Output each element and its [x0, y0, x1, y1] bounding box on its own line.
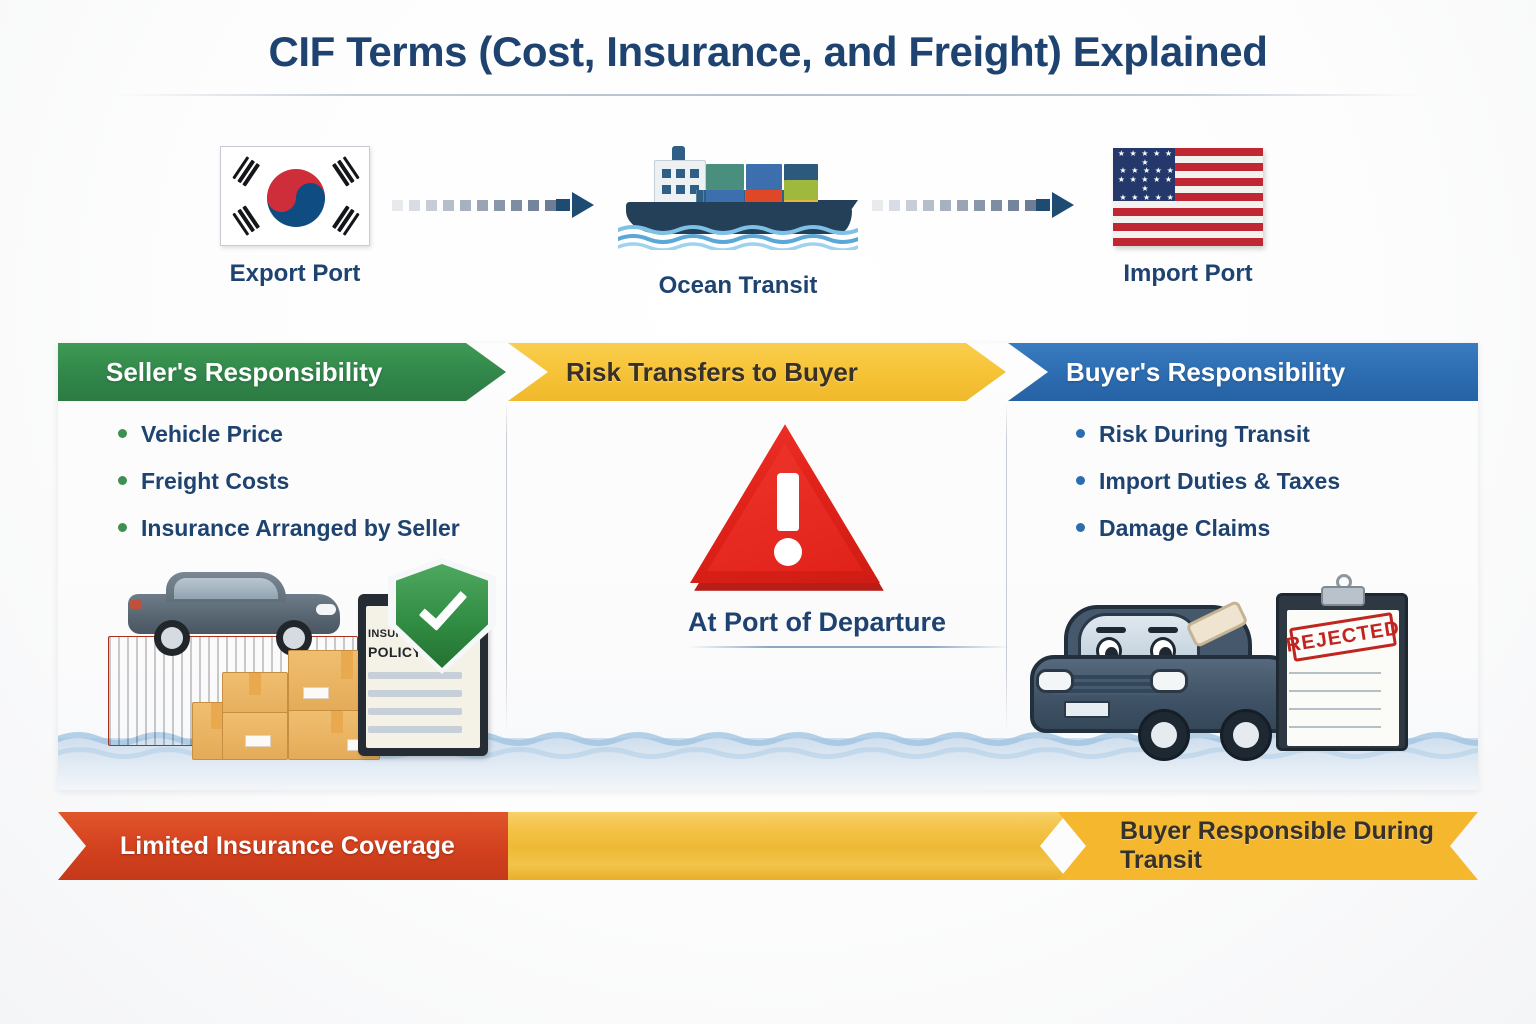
bullet-label: Freight Costs	[141, 468, 289, 495]
ribbon-middle	[508, 812, 1068, 880]
bullet-label: Insurance Arranged by Seller	[141, 515, 460, 542]
infographic-root: CIF Terms (Cost, Insurance, and Freight)…	[0, 0, 1536, 1024]
flow-node-import-port: ★ ★ ★ ★ ★ ★ ★ ★ ★ ★ ★★ ★ ★ ★ ★ ★ ★ ★ ★ ★…	[1113, 148, 1263, 288]
south-korea-flag-icon	[220, 146, 370, 246]
bullet-label: Damage Claims	[1099, 515, 1270, 542]
buyer-illustration: REJECTED	[1020, 579, 1420, 769]
bullet-dot-icon	[118, 476, 127, 485]
bottom-ribbon-bar: Limited Insurance Coverage Buyer Respons…	[58, 812, 1478, 880]
buyer-bullet-list: Risk During Transit Import Duties & Taxe…	[1076, 421, 1466, 562]
title-area: CIF Terms (Cost, Insurance, and Freight)…	[0, 28, 1536, 96]
flow-label-export-port: Export Port	[220, 260, 370, 288]
header-label-seller: Seller's Responsibility	[106, 357, 382, 388]
bullet-dot-icon	[1076, 429, 1085, 438]
usa-flag-icon: ★ ★ ★ ★ ★ ★ ★ ★ ★ ★ ★★ ★ ★ ★ ★ ★ ★ ★ ★ ★…	[1113, 148, 1263, 246]
seller-illustration: INSURANCE POLICY	[100, 558, 520, 763]
flow-node-ocean-transit: Ocean Transit	[618, 140, 858, 300]
ribbon-buyer-responsible: Buyer Responsible During Transit	[1058, 812, 1478, 880]
bullet-label: Risk During Transit	[1099, 421, 1310, 448]
bullet-dot-icon	[118, 429, 127, 438]
header-risk-transfers: Risk Transfers to Buyer	[508, 343, 1006, 401]
seller-bullet-list: Vehicle Price Freight Costs Insurance Ar…	[118, 421, 498, 562]
column-divider-right	[1006, 401, 1007, 731]
header-label-buyer: Buyer's Responsibility	[1066, 357, 1345, 388]
column-headers: Seller's Responsibility Risk Transfers t…	[58, 343, 1478, 401]
flow-label-import-port: Import Port	[1113, 260, 1263, 288]
title-divider	[118, 94, 1418, 96]
flow-node-export-port: Export Port	[220, 146, 370, 288]
list-item: Vehicle Price	[118, 421, 498, 448]
flow-label-ocean-transit: Ocean Transit	[618, 272, 858, 300]
ribbon-limited-insurance: Limited Insurance Coverage	[58, 812, 508, 880]
list-item: Freight Costs	[118, 468, 498, 495]
risk-transfer-callout: At Port of Departure	[688, 421, 888, 648]
list-item: Insurance Arranged by Seller	[118, 515, 498, 542]
bullet-dot-icon	[118, 523, 127, 532]
red-warning-triangle-icon	[690, 421, 886, 589]
rejected-clipboard: REJECTED	[1276, 593, 1408, 751]
dotted-arrow-right-icon	[392, 192, 594, 218]
ribbon-left-label: Limited Insurance Coverage	[120, 832, 455, 861]
container-ship-icon	[618, 140, 858, 250]
list-item: Import Duties & Taxes	[1076, 468, 1466, 495]
header-sellers-responsibility: Seller's Responsibility	[58, 343, 506, 401]
sedan-car-icon	[128, 568, 340, 642]
shipping-flow-row: Export Port	[0, 140, 1536, 320]
header-buyers-responsibility: Buyer's Responsibility	[1008, 343, 1478, 401]
responsibility-panel: Seller's Responsibility Risk Transfers t…	[58, 343, 1478, 790]
ribbon-right-label: Buyer Responsible During Transit	[1120, 817, 1478, 875]
header-label-transfer: Risk Transfers to Buyer	[566, 357, 858, 388]
bullet-label: Import Duties & Taxes	[1099, 468, 1340, 495]
caption-underline	[688, 646, 1010, 648]
bullet-dot-icon	[1076, 523, 1085, 532]
risk-transfer-caption: At Port of Departure	[688, 607, 888, 638]
wave-lines-icon	[618, 224, 858, 250]
sad-damaged-car-icon	[1030, 597, 1298, 765]
list-item: Damage Claims	[1076, 515, 1466, 542]
bullet-label: Vehicle Price	[141, 421, 283, 448]
bullet-dot-icon	[1076, 476, 1085, 485]
dotted-arrow-right-icon-2	[872, 192, 1074, 218]
list-item: Risk During Transit	[1076, 421, 1466, 448]
page-title: CIF Terms (Cost, Insurance, and Freight)…	[0, 28, 1536, 76]
